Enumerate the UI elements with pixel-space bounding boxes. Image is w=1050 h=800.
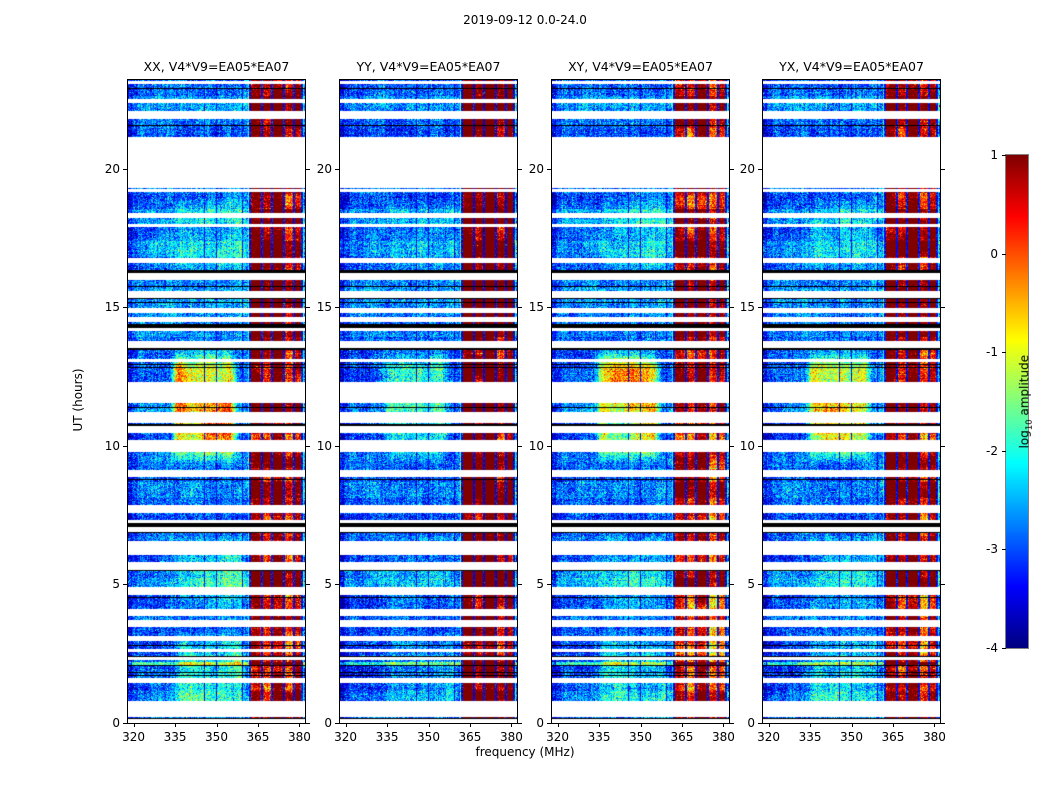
xtick-label-yx-3: 365 bbox=[882, 730, 905, 744]
ytick-mark-xx-3 bbox=[123, 307, 127, 308]
panel-title-yx: YX, V4*V9=EA05*EA07 bbox=[779, 59, 924, 74]
xtick-mark-yx-2 bbox=[852, 723, 853, 727]
ytick-label-xx-1: 5 bbox=[86, 577, 120, 591]
ytick-label-xy-2: 10 bbox=[510, 439, 544, 453]
xtick-mark-yy-2 bbox=[429, 723, 430, 727]
ytick-label-yy-1: 5 bbox=[298, 577, 332, 591]
waterfall-image-xy bbox=[552, 80, 729, 723]
xtick-label-xx-1: 335 bbox=[164, 730, 187, 744]
y-axis-label: UT (hours) bbox=[71, 340, 85, 460]
ytick-label-xy-0: 0 bbox=[510, 716, 544, 730]
xtick-label-xy-3: 365 bbox=[671, 730, 694, 744]
ytick-mark-right-yx-0 bbox=[941, 723, 945, 724]
xtick-mark-yy-0 bbox=[346, 723, 347, 727]
colorbar-tick-mark-5 bbox=[1002, 155, 1006, 156]
waterfall-image-yy bbox=[340, 80, 517, 723]
colorbar-label-suffix: amplitude bbox=[1017, 354, 1031, 418]
xtick-mark-yx-3 bbox=[893, 723, 894, 727]
ytick-label-yx-2: 10 bbox=[721, 439, 755, 453]
panel-yy[interactable]: YY, V4*V9=EA05*EA07 bbox=[339, 79, 518, 724]
xtick-mark-yy-3 bbox=[470, 723, 471, 727]
ytick-mark-right-yx-4 bbox=[941, 169, 945, 170]
panel-xx[interactable]: XX, V4*V9=EA05*EA07 bbox=[127, 79, 306, 724]
ytick-mark-yx-0 bbox=[758, 723, 762, 724]
ytick-mark-yy-2 bbox=[335, 446, 339, 447]
ytick-mark-xy-3 bbox=[547, 307, 551, 308]
xtick-label-yx-1: 335 bbox=[799, 730, 822, 744]
ytick-mark-yy-1 bbox=[335, 584, 339, 585]
ytick-label-yy-0: 0 bbox=[298, 716, 332, 730]
colorbar-tick-mark-0 bbox=[1002, 648, 1006, 649]
ytick-mark-yx-1 bbox=[758, 584, 762, 585]
xtick-label-yy-3: 365 bbox=[459, 730, 482, 744]
xtick-mark-xy-2 bbox=[641, 723, 642, 727]
ytick-mark-yx-2 bbox=[758, 446, 762, 447]
xtick-mark-xy-3 bbox=[682, 723, 683, 727]
ytick-mark-yy-3 bbox=[335, 307, 339, 308]
xtick-mark-yx-0 bbox=[769, 723, 770, 727]
xtick-mark-xx-0 bbox=[134, 723, 135, 727]
ytick-mark-right-yx-3 bbox=[941, 307, 945, 308]
ytick-mark-right-yx-2 bbox=[941, 446, 945, 447]
xtick-mark-xx-3 bbox=[258, 723, 259, 727]
xtick-label-xy-0: 320 bbox=[546, 730, 569, 744]
ytick-label-xx-0: 0 bbox=[86, 716, 120, 730]
ytick-mark-xy-2 bbox=[547, 446, 551, 447]
panel-title-yy: YY, V4*V9=EA05*EA07 bbox=[357, 59, 501, 74]
xtick-label-yy-1: 335 bbox=[376, 730, 399, 744]
colorbar-tick-label-0: -4 bbox=[962, 641, 998, 655]
panel-xy[interactable]: XY, V4*V9=EA05*EA07 bbox=[551, 79, 730, 724]
xtick-mark-yy-1 bbox=[387, 723, 388, 727]
ytick-mark-yx-3 bbox=[758, 307, 762, 308]
ytick-mark-xy-0 bbox=[547, 723, 551, 724]
panel-title-xy: XY, V4*V9=EA05*EA07 bbox=[568, 59, 713, 74]
colorbar-label: log10 amplitude bbox=[1017, 331, 1034, 471]
colorbar-tick-label-2: -2 bbox=[962, 444, 998, 458]
ytick-mark-xx-4 bbox=[123, 169, 127, 170]
ytick-label-xx-4: 20 bbox=[86, 162, 120, 176]
xtick-label-xy-4: 380 bbox=[712, 730, 735, 744]
ytick-label-xy-1: 5 bbox=[510, 577, 544, 591]
x-axis-label: frequency (MHz) bbox=[0, 745, 1050, 759]
colorbar-tick-mark-2 bbox=[1002, 451, 1006, 452]
panel-title-xx: XX, V4*V9=EA05*EA07 bbox=[144, 59, 290, 74]
colorbar-tick-label-3: -1 bbox=[962, 345, 998, 359]
figure-suptitle: 2019-09-12 0.0-24.0 bbox=[0, 13, 1050, 27]
colorbar-label-subscript: 10 bbox=[1025, 419, 1035, 430]
xtick-mark-xx-1 bbox=[175, 723, 176, 727]
ytick-label-yx-4: 20 bbox=[721, 162, 755, 176]
colorbar-tick-mark-3 bbox=[1002, 352, 1006, 353]
xtick-label-xy-1: 335 bbox=[588, 730, 611, 744]
colorbar-tick-mark-4 bbox=[1002, 254, 1006, 255]
ytick-mark-yy-0 bbox=[335, 723, 339, 724]
waterfall-image-yx bbox=[763, 80, 940, 723]
xtick-mark-yx-4 bbox=[934, 723, 935, 727]
xtick-mark-xy-0 bbox=[558, 723, 559, 727]
xtick-label-yy-2: 350 bbox=[417, 730, 440, 744]
colorbar-tick-mark-1 bbox=[1002, 549, 1006, 550]
ytick-mark-xy-1 bbox=[547, 584, 551, 585]
ytick-mark-xx-1 bbox=[123, 584, 127, 585]
ytick-mark-right-yx-1 bbox=[941, 584, 945, 585]
ytick-mark-xy-4 bbox=[547, 169, 551, 170]
ytick-label-xx-2: 10 bbox=[86, 439, 120, 453]
ytick-label-yx-3: 15 bbox=[721, 300, 755, 314]
colorbar-tick-label-5: 1 bbox=[962, 148, 998, 162]
xtick-label-xx-2: 350 bbox=[205, 730, 228, 744]
ytick-mark-xx-0 bbox=[123, 723, 127, 724]
ytick-label-yy-3: 15 bbox=[298, 300, 332, 314]
ytick-label-yx-0: 0 bbox=[721, 716, 755, 730]
ytick-mark-yy-4 bbox=[335, 169, 339, 170]
xtick-label-xy-2: 350 bbox=[629, 730, 652, 744]
xtick-label-yy-4: 380 bbox=[500, 730, 523, 744]
ytick-label-xy-3: 15 bbox=[510, 300, 544, 314]
xtick-mark-xy-1 bbox=[599, 723, 600, 727]
colorbar-tick-label-1: -3 bbox=[962, 542, 998, 556]
ytick-label-yx-1: 5 bbox=[721, 577, 755, 591]
xtick-label-yy-0: 320 bbox=[334, 730, 357, 744]
ytick-label-xy-4: 20 bbox=[510, 162, 544, 176]
xtick-label-xx-0: 320 bbox=[122, 730, 145, 744]
xtick-label-yx-0: 320 bbox=[757, 730, 780, 744]
xtick-mark-yx-1 bbox=[810, 723, 811, 727]
ytick-mark-xx-2 bbox=[123, 446, 127, 447]
ytick-label-yy-4: 20 bbox=[298, 162, 332, 176]
colorbar-tick-label-4: 0 bbox=[962, 247, 998, 261]
ytick-label-xx-3: 15 bbox=[86, 300, 120, 314]
colorbar-label-base: log bbox=[1017, 430, 1031, 448]
xtick-label-xx-4: 380 bbox=[288, 730, 311, 744]
xtick-label-yx-4: 380 bbox=[923, 730, 946, 744]
ytick-mark-yx-4 bbox=[758, 169, 762, 170]
ytick-label-yy-2: 10 bbox=[298, 439, 332, 453]
waterfall-image-xx bbox=[128, 80, 305, 723]
figure-canvas: 2019-09-12 0.0-24.0 XX, V4*V9=EA05*EA073… bbox=[0, 0, 1050, 800]
panel-yx[interactable]: YX, V4*V9=EA05*EA07 bbox=[762, 79, 941, 724]
xtick-label-yx-2: 350 bbox=[840, 730, 863, 744]
xtick-label-xx-3: 365 bbox=[247, 730, 270, 744]
xtick-mark-xx-2 bbox=[217, 723, 218, 727]
